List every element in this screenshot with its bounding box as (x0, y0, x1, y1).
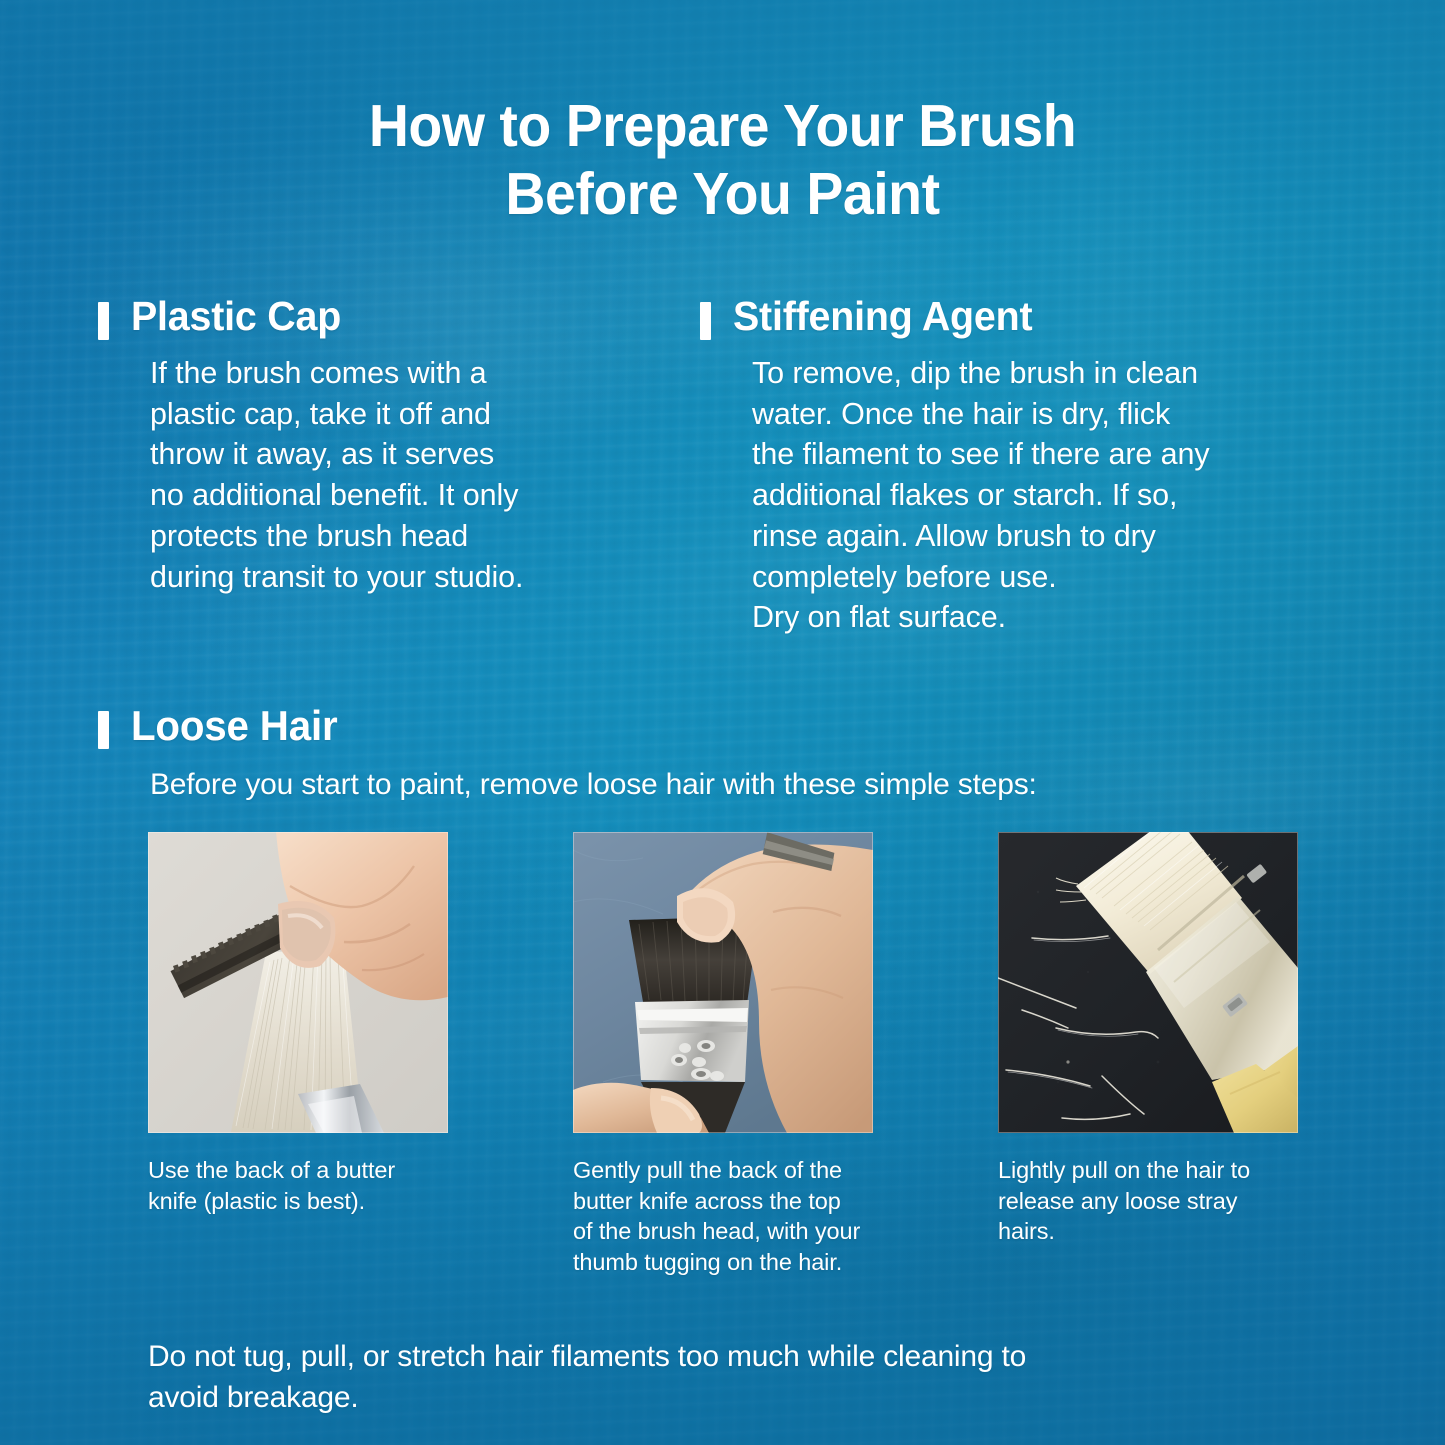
accent-bar-icon (700, 302, 711, 340)
section-loose-hair: Loose Hair Before you start to paint, re… (98, 705, 1348, 835)
page-title: How to Prepare Your Brush Before You Pai… (43, 92, 1401, 229)
pulling-knife-across-brush-head-photo (573, 832, 873, 1133)
section-body-stiffening-agent: To remove, dip the brush in clean water.… (752, 353, 1330, 638)
step-caption: Gently pull the back of the butter knife… (573, 1155, 873, 1277)
step-caption: Use the back of a butter knife (plastic … (148, 1155, 448, 1216)
step-item: Gently pull the back of the butter knife… (573, 832, 873, 1301)
section-body-plastic-cap: If the brush comes with a plastic cap, t… (150, 353, 638, 597)
step-item: Use the back of a butter knife (plastic … (148, 832, 448, 1301)
instructional-poster: How to Prepare Your Brush Before You Pai… (0, 0, 1445, 1445)
section-intro-loose-hair: Before you start to paint, remove loose … (150, 765, 1348, 805)
loose-stray-hairs-on-dark-surface-photo (998, 832, 1298, 1133)
step-item: Lightly pull on the hair to release any … (998, 832, 1298, 1301)
butter-knife-on-brush-photo (148, 832, 448, 1133)
section-heading-plastic-cap: Plastic Cap (131, 296, 341, 338)
step-caption: Lightly pull on the hair to release any … (998, 1155, 1298, 1247)
section-stiffening-agent: Stiffening Agent To remove, dip the brus… (700, 296, 1330, 668)
section-header: Stiffening Agent (700, 296, 1330, 340)
accent-bar-icon (98, 302, 109, 340)
section-header: Loose Hair (98, 705, 1348, 749)
accent-bar-icon (98, 711, 109, 749)
steps-gallery: Use the back of a butter knife (plastic … (148, 832, 1300, 1301)
section-heading-stiffening-agent: Stiffening Agent (733, 296, 1032, 338)
footnote-warning: Do not tug, pull, or stretch hair filame… (148, 1337, 1318, 1419)
section-header: Plastic Cap (98, 296, 638, 340)
section-plastic-cap: Plastic Cap If the brush comes with a pl… (98, 296, 638, 628)
section-heading-loose-hair: Loose Hair (131, 705, 337, 748)
